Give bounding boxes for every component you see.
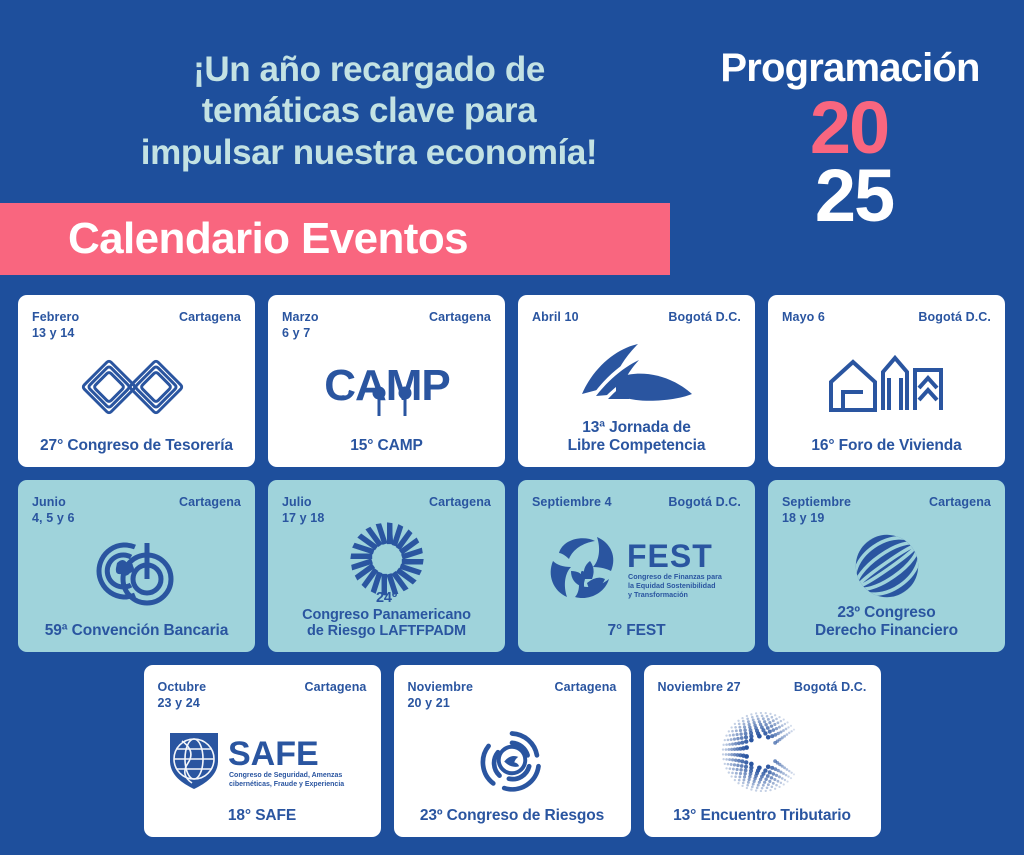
event-card-fest[interactable]: Septiembre 4 Bogotá D.C.	[518, 480, 755, 652]
card-meta: Septiembre 4 Bogotá D.C.	[532, 494, 741, 510]
bird-wing-icon	[532, 325, 741, 419]
card-meta: Marzo 6 y 7 Cartagena	[282, 309, 491, 341]
card-meta: Abril 10 Bogotá D.C.	[532, 309, 741, 325]
card-meta: Septiembre 18 y 19 Cartagena	[782, 494, 991, 526]
card-meta: Junio 4, 5 y 6 Cartagena	[32, 494, 241, 526]
calendar-banner: Calendario Eventos	[0, 203, 670, 275]
svg-text:SAFE: SAFE	[228, 735, 319, 773]
card-city: Bogotá D.C.	[918, 309, 991, 325]
cb-monogram-icon	[32, 526, 241, 622]
headline-line-1: ¡Un año recargado de	[46, 49, 692, 90]
card-date: Abril 10	[532, 309, 579, 325]
card-city: Cartagena	[554, 679, 616, 695]
houses-skyline-icon	[782, 325, 991, 437]
program-label: Programación	[700, 48, 1000, 88]
banner-title: Calendario Eventos	[68, 217, 468, 261]
event-card-tesoreria[interactable]: Febrero 13 y 14 Cartagena	[18, 295, 255, 467]
event-card-derecho-financiero[interactable]: Septiembre 18 y 19 Cartagena	[768, 480, 1005, 652]
event-card-safe[interactable]: Octubre 23 y 24 Cartagena	[144, 665, 381, 837]
card-title: 27° Congreso de Tesorería	[32, 437, 241, 457]
card-title: 23º Congreso Derecho Financiero	[782, 604, 991, 642]
calendar-poster: ¡Un año recargado de temáticas clave par…	[0, 0, 1024, 855]
card-date: Octubre 23 y 24	[158, 679, 207, 711]
fest-leaf-hands-icon: FEST Congreso de Finanzas para la Equida…	[532, 510, 741, 622]
headline-line-2: temáticas clave para	[46, 90, 692, 131]
event-card-congreso-riesgos[interactable]: Noviembre 20 y 21 Cartagena	[394, 665, 631, 837]
card-meta: Noviembre 27 Bogotá D.C.	[658, 679, 867, 695]
svg-text:y Transformación: y Transformación	[628, 590, 688, 599]
card-city: Cartagena	[179, 309, 241, 325]
event-card-foro-vivienda[interactable]: Mayo 6 Bogotá D.C.	[768, 295, 1005, 467]
card-meta: Octubre 23 y 24 Cartagena	[158, 679, 367, 711]
striped-sphere-icon	[782, 526, 991, 604]
card-title: 7° FEST	[532, 622, 741, 642]
svg-text:la Equidad Sostenibilidad: la Equidad Sostenibilidad	[628, 581, 715, 590]
card-title: 15° CAMP	[282, 437, 491, 457]
card-title: 13ª Jornada de Libre Competencia	[532, 419, 741, 457]
card-city: Cartagena	[429, 309, 491, 325]
event-card-encuentro-tributario[interactable]: Noviembre 27 Bogotá D.C. 13° Encuentro T…	[644, 665, 881, 837]
svg-text:Congreso de Finanzas para: Congreso de Finanzas para	[628, 572, 723, 581]
poster-header: ¡Un año recargado de temáticas clave par…	[0, 0, 1024, 290]
card-city: Bogotá D.C.	[794, 679, 867, 695]
card-date: Mayo 6	[782, 309, 825, 325]
event-row-2: Junio 4, 5 y 6 Cartagena	[0, 480, 1024, 652]
dotted-crescent-icon	[658, 695, 867, 807]
card-city: Bogotá D.C.	[668, 494, 741, 510]
event-row-1: Febrero 13 y 14 Cartagena	[0, 295, 1024, 467]
svg-text:Congreso de Seguridad, Amenzas: Congreso de Seguridad, Amenzas	[229, 772, 342, 779]
card-title: 24º Congreso Panamericano de Riesgo LAFT…	[282, 590, 491, 642]
card-date: Junio 4, 5 y 6	[32, 494, 75, 526]
svg-text:cibernéticas, Fraude y Experie: cibernéticas, Fraude y Experiencia	[229, 781, 344, 788]
headline-line-3: impulsar nuestra economía!	[46, 132, 692, 173]
event-card-libre-competencia[interactable]: Abril 10 Bogotá D.C.	[518, 295, 755, 467]
program-year-block: Programación 20 25	[700, 48, 1000, 230]
card-title: 23º Congreso de Riesgos	[408, 807, 617, 827]
card-date: Septiembre 18 y 19	[782, 494, 851, 526]
headline: ¡Un año recargado de temáticas clave par…	[46, 49, 692, 173]
event-card-riesgo-laftfpadm[interactable]: Julio 17 y 18 Cartagena	[268, 480, 505, 652]
event-card-convencion-bancaria[interactable]: Junio 4, 5 y 6 Cartagena	[18, 480, 255, 652]
year-top: 20	[698, 94, 1000, 162]
card-title: 16° Foro de Vivienda	[782, 437, 991, 457]
card-city: Cartagena	[429, 494, 491, 510]
card-date: Septiembre 4	[532, 494, 612, 510]
year-bottom: 25	[708, 162, 1000, 230]
card-city: Cartagena	[179, 494, 241, 510]
event-row-3: Octubre 23 y 24 Cartagena	[0, 665, 1024, 837]
card-date: Marzo 6 y 7	[282, 309, 319, 341]
card-title: 18° SAFE	[158, 807, 367, 827]
card-meta: Febrero 13 y 14 Cartagena	[32, 309, 241, 341]
card-meta: Noviembre 20 y 21 Cartagena	[408, 679, 617, 711]
card-city: Cartagena	[929, 494, 991, 510]
camp-wordmark-icon: CAMP	[282, 341, 491, 437]
card-date: Noviembre 20 y 21	[408, 679, 474, 711]
safe-shield-icon: SAFE Congreso de Seguridad, Amenzas cibe…	[158, 711, 367, 807]
radar-swirl-icon	[408, 711, 617, 807]
svg-text:FEST: FEST	[627, 538, 713, 574]
card-title: 13° Encuentro Tributario	[658, 807, 867, 827]
infinity-diamonds-icon	[32, 341, 241, 437]
card-meta: Mayo 6 Bogotá D.C.	[782, 309, 991, 325]
card-date: Febrero 13 y 14	[32, 309, 79, 341]
card-title: 59ª Convención Bancaria	[32, 622, 241, 642]
event-card-camp[interactable]: Marzo 6 y 7 Cartagena CAMP 15° CAMP	[268, 295, 505, 467]
svg-text:CAMP: CAMP	[324, 361, 450, 410]
card-city: Bogotá D.C.	[668, 309, 741, 325]
event-grid: Febrero 13 y 14 Cartagena	[0, 295, 1024, 850]
card-date: Noviembre 27	[658, 679, 741, 695]
card-city: Cartagena	[304, 679, 366, 695]
torus-rays-icon	[282, 526, 491, 590]
card-date: Julio 17 y 18	[282, 494, 324, 526]
